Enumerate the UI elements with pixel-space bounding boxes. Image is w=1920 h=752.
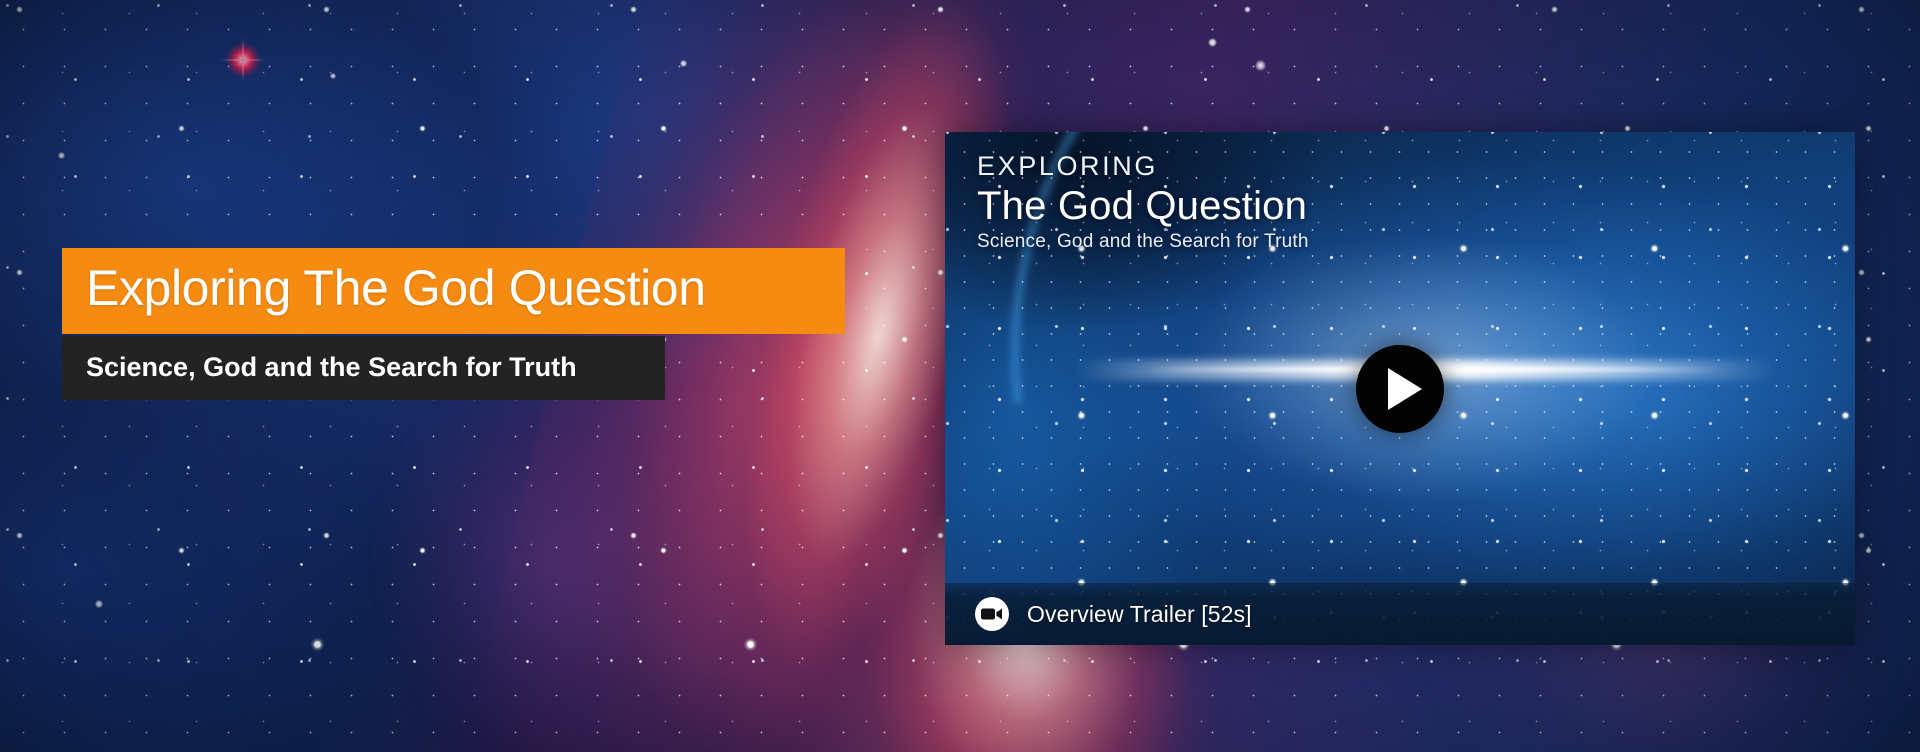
video-overlay-title: EXPLORING The God Question Science, God …	[977, 152, 1309, 253]
hero-text-block: Exploring The God Question Science, God …	[62, 248, 845, 400]
page-title: Exploring The God Question	[86, 256, 821, 320]
hero-banner: Exploring The God Question Science, God …	[0, 0, 1920, 752]
hero-subtitle-band: Science, God and the Search for Truth	[62, 336, 665, 400]
video-overlay-subtitle: Science, God and the Search for Truth	[977, 231, 1309, 254]
page-subtitle: Science, God and the Search for Truth	[86, 348, 641, 386]
play-button[interactable]	[1356, 345, 1444, 433]
video-player-panel[interactable]: EXPLORING The God Question Science, God …	[945, 132, 1855, 645]
hero-title-band: Exploring The God Question	[62, 248, 845, 334]
play-triangle-icon	[1388, 368, 1422, 410]
video-camera-icon	[975, 597, 1009, 631]
video-overlay-eyebrow: EXPLORING	[977, 152, 1309, 182]
video-overlay-main-title: The God Question	[977, 183, 1309, 229]
video-caption-label: Overview Trailer [52s]	[1027, 601, 1252, 628]
video-caption-bar[interactable]: Overview Trailer [52s]	[945, 583, 1855, 645]
